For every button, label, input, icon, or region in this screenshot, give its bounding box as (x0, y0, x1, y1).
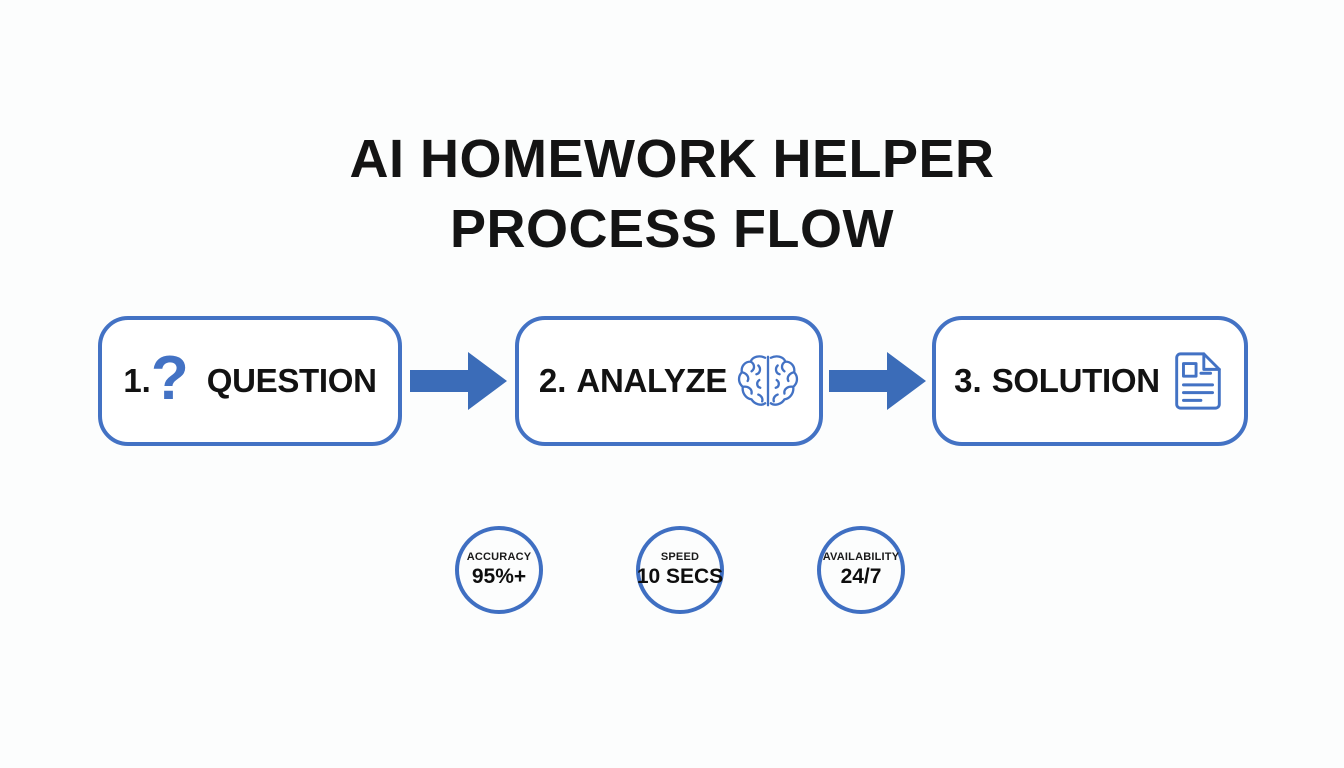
stat-value-accuracy: 95%+ (472, 565, 526, 589)
step-box-analyze[interactable]: 2. ANALYZE (515, 316, 823, 446)
arrow-2 (823, 350, 932, 412)
stat-label-speed: SPEED (661, 551, 699, 564)
step-content-question: 1. ? QUESTION (123, 361, 376, 401)
brain-icon-slot (737, 350, 799, 412)
step-number-1: 1. (123, 362, 151, 400)
title-line-2: PROCESS FLOW (0, 202, 1344, 256)
step-number-3: 3. (954, 362, 982, 400)
stat-label-availability: AVAILABILITY (823, 551, 900, 564)
step-number-2: 2. (539, 362, 567, 400)
arrow-right-icon (410, 350, 508, 412)
question-mark-icon: ? (151, 359, 189, 399)
step-label-solution: SOLUTION (992, 362, 1160, 400)
stat-value-speed: 10 SECS (637, 565, 723, 589)
step-content-solution: 3. SOLUTION (954, 350, 1226, 412)
step-label-analyze: ANALYZE (576, 362, 727, 400)
stat-accuracy[interactable]: ACCURACY 95%+ (455, 526, 543, 614)
stats-row: ACCURACY 95%+ SPEED 10 SECS AVAILABILITY… (455, 520, 905, 620)
step-label-question: QUESTION (207, 362, 377, 400)
brain-icon (737, 350, 799, 412)
slide-canvas: { "colors": { "background": "#fcfdfd", "… (0, 0, 1344, 768)
arrow-1 (402, 350, 515, 412)
stat-speed[interactable]: SPEED 10 SECS (636, 526, 724, 614)
document-icon (1170, 350, 1226, 412)
stat-label-accuracy: ACCURACY (467, 551, 532, 564)
step-box-solution[interactable]: 3. SOLUTION (932, 316, 1248, 446)
stat-availability[interactable]: AVAILABILITY 24/7 (817, 526, 905, 614)
process-flow-row: 1. ? QUESTION 2. ANALYZE (98, 313, 1248, 449)
arrow-right-icon (829, 350, 927, 412)
step-box-question[interactable]: 1. ? QUESTION (98, 316, 402, 446)
step-content-analyze: 2. ANALYZE (539, 350, 799, 412)
document-icon-slot (1170, 350, 1226, 412)
stat-value-availability: 24/7 (841, 565, 882, 589)
title-line-1: AI HOMEWORK HELPER (0, 132, 1344, 186)
page-title: AI HOMEWORK HELPER PROCESS FLOW (0, 132, 1344, 256)
